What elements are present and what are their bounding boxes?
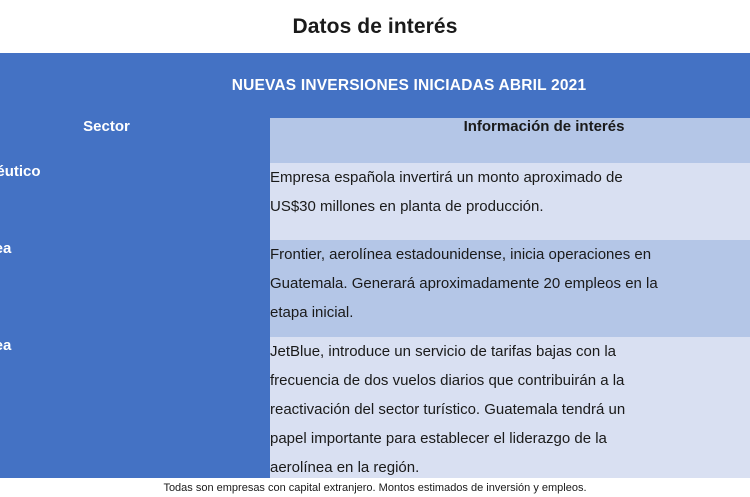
column-header-sector: Sector	[0, 118, 270, 163]
table-header-row: Sector Información de interés	[0, 118, 750, 163]
info-line: US$30 millones en planta de producción.	[270, 192, 750, 221]
info-line: reactivación del sector turístico. Guate…	[270, 395, 750, 424]
cell-info: Frontier, aerolínea estadounidense, inic…	[270, 240, 750, 337]
cell-info: JetBlue, introduce un servicio de tarifa…	[270, 337, 750, 482]
investments-table: Sector Información de interés Farmacéuti…	[0, 118, 750, 482]
cell-sector: Farmacéutico	[0, 163, 270, 240]
table-banner-title: NUEVAS INVERSIONES INICIADAS ABRIL 2021	[0, 53, 750, 118]
investments-table-container: NUEVAS INVERSIONES INICIADAS ABRIL 2021 …	[0, 53, 750, 478]
table-footnote: Todas son empresas con capital extranjer…	[0, 478, 750, 497]
table-row: Aerolínea JetBlue, introduce un servicio…	[0, 337, 750, 482]
table-row: Aerolínea Frontier, aerolínea estadounid…	[0, 240, 750, 337]
info-line: etapa inicial.	[270, 298, 750, 327]
info-line: JetBlue, introduce un servicio de tarifa…	[270, 337, 750, 366]
column-header-info: Información de interés	[270, 118, 750, 163]
table-row: Farmacéutico Empresa española invertirá …	[0, 163, 750, 240]
info-line: Guatemala. Generará aproximadamente 20 e…	[270, 269, 750, 298]
cell-sector: Aerolínea	[0, 240, 270, 337]
info-line: frecuencia de dos vuelos diarios que con…	[270, 366, 750, 395]
info-line: Frontier, aerolínea estadounidense, inic…	[270, 240, 750, 269]
page-title: Datos de interés	[0, 0, 750, 53]
cell-info: Empresa española invertirá un monto apro…	[270, 163, 750, 240]
info-line: Empresa española invertirá un monto apro…	[270, 163, 750, 192]
cell-sector: Aerolínea	[0, 337, 270, 482]
info-line: papel importante para establecer el lide…	[270, 424, 750, 453]
